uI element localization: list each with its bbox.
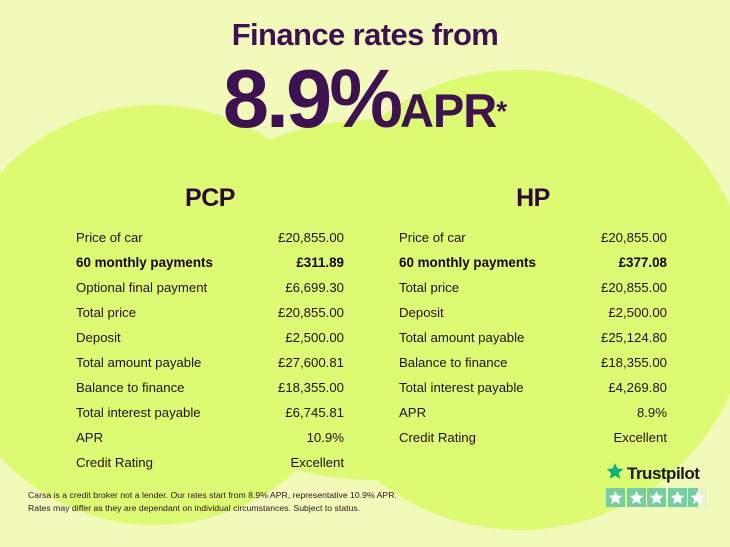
- row-label: Total amount payable: [76, 350, 257, 375]
- finance-table-pcp: PCP Price of car£20,855.0060 monthly pay…: [76, 186, 344, 475]
- trustpilot-star-rating: [606, 488, 710, 507]
- rating-star-box: [606, 488, 625, 507]
- disclaimer: Carsa is a credit broker not a lender. O…: [28, 489, 458, 516]
- row-label: APR: [399, 400, 580, 425]
- row-label: Total interest payable: [399, 375, 580, 400]
- page-title: Finance rates from: [0, 0, 730, 50]
- rating-star-box: [668, 488, 687, 507]
- table-row: Price of car£20,855.00: [76, 225, 344, 250]
- rate-unit: APR: [400, 84, 496, 137]
- row-label: Deposit: [399, 300, 580, 325]
- table-row: Total interest payable£6,745.81: [76, 400, 344, 425]
- row-label: Credit Rating: [399, 425, 580, 450]
- row-label: 60 monthly payments: [399, 250, 580, 275]
- row-value: £6,699.30: [257, 275, 344, 300]
- row-label: Balance to finance: [76, 375, 257, 400]
- row-label: Price of car: [399, 225, 580, 250]
- row-value: £20,855.00: [580, 225, 667, 250]
- trustpilot-star-icon: [606, 462, 624, 485]
- rating-star-box: [627, 488, 646, 507]
- row-label: Credit Rating: [76, 450, 257, 475]
- table-row: Total amount payable£25,124.80: [399, 325, 667, 350]
- row-value: Excellent: [257, 450, 344, 475]
- row-value: Excellent: [580, 425, 667, 450]
- table-row: APR10.9%: [76, 425, 344, 450]
- rate-asterisk: *: [496, 96, 507, 127]
- table-row: Total price£20,855.00: [76, 300, 344, 325]
- row-value: £20,855.00: [257, 225, 344, 250]
- row-value: 10.9%: [257, 425, 344, 450]
- table-row: Balance to finance£18,355.00: [76, 375, 344, 400]
- table-row: Credit RatingExcellent: [399, 425, 667, 450]
- row-value: £2,500.00: [257, 325, 344, 350]
- table-title-pcp: PCP: [76, 186, 344, 211]
- row-label: Total amount payable: [399, 325, 580, 350]
- row-label: Deposit: [76, 325, 257, 350]
- table-row: 60 monthly payments£377.08: [399, 250, 667, 275]
- row-value: £27,600.81: [257, 350, 344, 375]
- row-value: £6,745.81: [257, 400, 344, 425]
- trustpilot-wordmark: Trustpilot: [627, 465, 699, 482]
- row-label: Total price: [399, 275, 580, 300]
- table-row: Total interest payable£4,269.80: [399, 375, 667, 400]
- promo-banner: Finance rates from 8.9%APR* PCP Price of…: [0, 0, 730, 547]
- row-label: Balance to finance: [399, 350, 580, 375]
- row-label: Total interest payable: [76, 400, 257, 425]
- table-row: Total price£20,855.00: [399, 275, 667, 300]
- trustpilot-rating[interactable]: Trustpilot: [606, 463, 710, 507]
- table-row: 60 monthly payments£311.89: [76, 250, 344, 275]
- rate-value: 8.9%: [223, 52, 400, 145]
- row-label: Total price: [76, 300, 257, 325]
- row-value: £2,500.00: [580, 300, 667, 325]
- table-row: Balance to finance£18,355.00: [399, 350, 667, 375]
- trustpilot-logo: Trustpilot: [606, 463, 710, 484]
- row-value: £20,855.00: [580, 275, 667, 300]
- row-value: £377.08: [580, 250, 667, 275]
- table-row: Price of car£20,855.00: [399, 225, 667, 250]
- hp-rows: Price of car£20,855.0060 monthly payment…: [399, 225, 667, 450]
- table-row: Credit RatingExcellent: [76, 450, 344, 475]
- rating-star-box: [688, 488, 707, 507]
- row-label: Price of car: [76, 225, 257, 250]
- finance-table-hp: HP Price of car£20,855.0060 monthly paym…: [399, 186, 667, 450]
- table-title-hp: HP: [399, 186, 667, 211]
- row-value: £18,355.00: [580, 350, 667, 375]
- pcp-rows: Price of car£20,855.0060 monthly payment…: [76, 225, 344, 475]
- table-row: APR8.9%: [399, 400, 667, 425]
- disclaimer-line-2: Rates may differ as they are dependant o…: [28, 502, 458, 515]
- row-value: £4,269.80: [580, 375, 667, 400]
- row-value: 8.9%: [580, 400, 667, 425]
- row-label: Optional final payment: [76, 275, 257, 300]
- table-row: Deposit£2,500.00: [399, 300, 667, 325]
- disclaimer-line-1: Carsa is a credit broker not a lender. O…: [28, 489, 458, 502]
- rating-star-box: [647, 488, 666, 507]
- table-row: Total amount payable£27,600.81: [76, 350, 344, 375]
- rate-display: 8.9%APR*: [0, 50, 730, 140]
- row-value: £311.89: [257, 250, 344, 275]
- table-row: Deposit£2,500.00: [76, 325, 344, 350]
- row-label: APR: [76, 425, 257, 450]
- header: Finance rates from 8.9%APR*: [0, 0, 730, 140]
- row-label: 60 monthly payments: [76, 250, 257, 275]
- row-value: £25,124.80: [580, 325, 667, 350]
- row-value: £20,855.00: [257, 300, 344, 325]
- table-row: Optional final payment£6,699.30: [76, 275, 344, 300]
- row-value: £18,355.00: [257, 375, 344, 400]
